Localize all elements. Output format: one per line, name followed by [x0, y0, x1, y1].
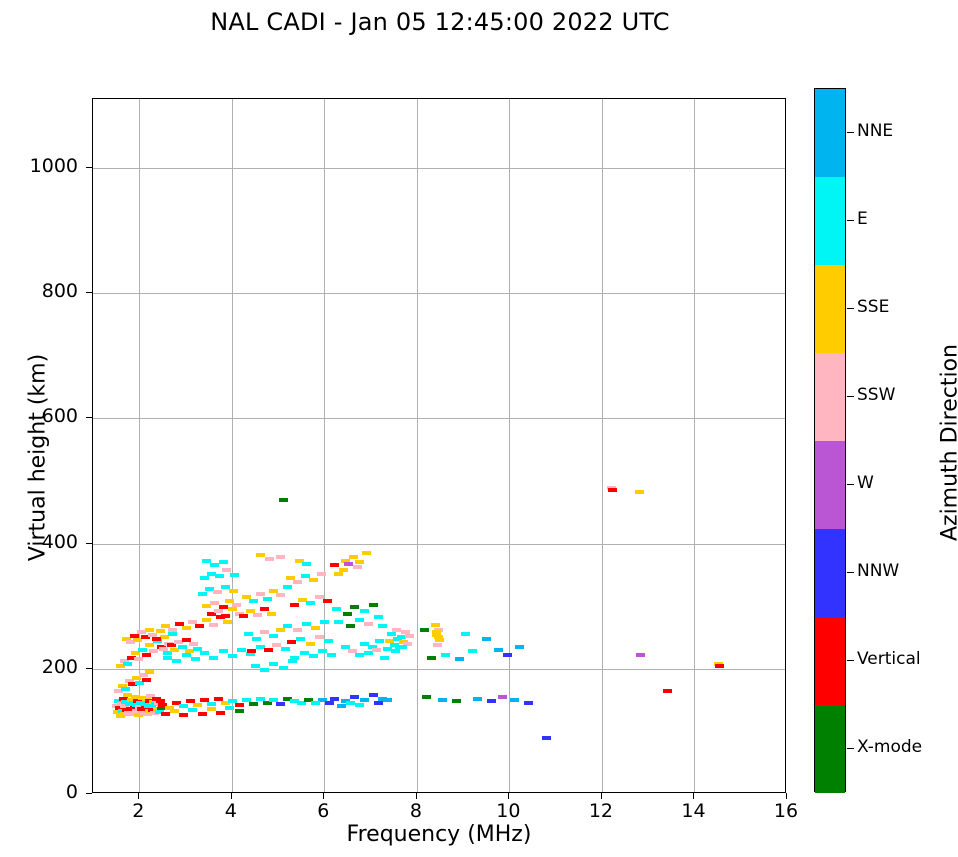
data-point [608, 488, 617, 492]
data-point [323, 599, 332, 603]
data-point [142, 678, 151, 682]
x-tick-label: 6 [293, 800, 353, 822]
data-point [360, 609, 369, 613]
data-point [309, 654, 318, 658]
data-point [247, 649, 256, 653]
data-point [355, 703, 364, 707]
colorbar-band [815, 89, 845, 177]
y-tick-label: 1000 [8, 155, 78, 177]
data-point [337, 704, 346, 708]
data-point [320, 620, 329, 624]
colorbar-tick [847, 220, 854, 221]
data-point [296, 637, 305, 641]
data-point [188, 708, 197, 712]
data-point [362, 551, 371, 555]
x-tick-label: 2 [108, 800, 168, 822]
data-point [182, 653, 191, 657]
data-point [287, 640, 296, 644]
chart-title: NAL CADI - Jan 05 12:45:00 2022 UTC [0, 8, 880, 36]
data-point [302, 562, 311, 566]
data-point [156, 629, 165, 633]
data-point [252, 637, 261, 641]
colorbar-band [815, 441, 845, 529]
data-point [265, 557, 274, 561]
data-point [325, 701, 334, 705]
data-point [267, 612, 276, 616]
x-tick [231, 793, 232, 799]
data-point [276, 593, 285, 597]
data-point [229, 589, 238, 593]
data-point [364, 622, 373, 626]
data-point [279, 666, 288, 670]
data-point [290, 656, 299, 660]
data-point [383, 698, 392, 702]
data-point [216, 711, 225, 715]
data-point [179, 713, 188, 717]
data-point [207, 707, 216, 711]
data-point [468, 649, 477, 653]
x-tick-label: 16 [756, 800, 816, 822]
data-point [515, 645, 524, 649]
data-point [193, 703, 202, 707]
data-point [145, 628, 154, 632]
data-point [300, 651, 309, 655]
data-point [253, 613, 262, 617]
data-point [209, 656, 218, 660]
y-axis-title: Virtual height (km) [26, 288, 51, 628]
y-tick-label: 200 [8, 656, 78, 678]
data-point [230, 573, 239, 577]
data-point [311, 701, 320, 705]
data-point [269, 634, 278, 638]
data-point [306, 601, 315, 605]
x-tick-label: 12 [571, 800, 631, 822]
data-point [145, 643, 154, 647]
data-point [324, 639, 333, 643]
data-point [198, 712, 207, 716]
data-point [235, 703, 244, 707]
data-point [161, 712, 170, 716]
data-point [510, 698, 519, 702]
data-point [283, 585, 292, 589]
data-point [172, 659, 181, 663]
data-point [281, 647, 290, 651]
data-point [503, 653, 512, 657]
data-point [494, 648, 503, 652]
colorbar-label-e: E [857, 209, 868, 229]
data-point [269, 662, 278, 666]
data-point [306, 642, 315, 646]
colorbar-title: Azimuth Direction [938, 283, 958, 603]
data-point [293, 628, 302, 632]
colorbar-label-x-mode: X-mode [857, 737, 922, 757]
data-point [189, 642, 198, 646]
data-point [374, 615, 383, 619]
data-point [249, 702, 258, 706]
data-point [276, 555, 285, 559]
x-tick [693, 793, 694, 799]
data-point [195, 624, 204, 628]
data-point [482, 637, 491, 641]
data-point [198, 592, 207, 596]
colorbar-band [815, 705, 845, 793]
data-point [392, 628, 401, 632]
data-point [239, 614, 248, 618]
data-point [219, 560, 228, 564]
data-point [221, 614, 230, 618]
colorbar-tick [847, 396, 854, 397]
colorbar-band [815, 529, 845, 617]
data-point [332, 607, 341, 611]
data-point [290, 603, 299, 607]
data-point [350, 605, 359, 609]
data-point [232, 603, 241, 607]
colorbar-label-nne: NNE [857, 121, 893, 141]
data-point [293, 580, 302, 584]
data-point [438, 698, 447, 702]
data-point [663, 689, 672, 693]
data-point [145, 670, 154, 674]
x-tick-label: 8 [386, 800, 446, 822]
data-point [244, 632, 253, 636]
data-point [219, 605, 228, 609]
data-point [343, 612, 352, 616]
x-tick-label: 10 [478, 800, 538, 822]
ionogram-figure: NAL CADI - Jan 05 12:45:00 2022 UTC 2468… [0, 0, 958, 857]
data-point [276, 628, 285, 632]
data-point [398, 645, 407, 649]
data-point [152, 637, 161, 641]
data-point [260, 607, 269, 611]
y-tick-label: 0 [8, 781, 78, 803]
data-point [349, 555, 358, 559]
data-point [121, 687, 130, 691]
data-point [461, 632, 470, 636]
data-point [327, 653, 336, 657]
data-point [237, 648, 246, 652]
plot-area [92, 98, 786, 793]
y-tick [86, 292, 92, 293]
colorbar-label-sse: SSE [857, 297, 889, 317]
colorbar-band [815, 265, 845, 353]
data-point [434, 635, 443, 639]
data-point [200, 651, 209, 655]
data-point [346, 624, 355, 628]
data-point [309, 578, 318, 582]
colorbar-label-w: W [857, 473, 874, 493]
data-point [168, 632, 177, 636]
data-point [202, 618, 211, 622]
data-point [473, 697, 482, 701]
data-point [170, 709, 179, 713]
data-point [372, 648, 381, 652]
data-point [355, 618, 364, 622]
data-point [251, 664, 260, 668]
data-point [387, 632, 396, 636]
data-point [214, 609, 223, 613]
x-axis-title: Frequency (MHz) [92, 822, 786, 847]
data-point [288, 659, 297, 663]
data-point [360, 698, 369, 702]
data-point [433, 643, 442, 647]
x-tick-label: 4 [201, 800, 261, 822]
data-point [142, 653, 151, 657]
colorbar-band [815, 353, 845, 441]
data-point [355, 653, 364, 657]
data-point [315, 635, 324, 639]
y-tick [86, 167, 92, 168]
data-point [498, 695, 507, 699]
data-point [179, 704, 188, 708]
data-point [330, 563, 339, 567]
data-point [249, 599, 258, 603]
colorbar-band [815, 617, 845, 705]
data-point [353, 565, 362, 569]
data-point [225, 706, 234, 710]
colorbar [814, 88, 846, 792]
x-tick [601, 793, 602, 799]
data-point [431, 623, 440, 627]
data-point [207, 702, 216, 706]
data-point [168, 628, 177, 632]
data-point [276, 702, 285, 706]
data-point [348, 649, 357, 653]
data-point [524, 701, 533, 705]
y-tick [86, 543, 92, 544]
data-point [264, 648, 273, 652]
data-point [200, 576, 209, 580]
data-point [374, 701, 383, 705]
colorbar-tick [847, 484, 854, 485]
data-point [260, 668, 269, 672]
x-tick [323, 793, 324, 799]
data-point [256, 553, 265, 557]
data-point [123, 662, 132, 666]
data-point [355, 560, 364, 564]
data-point [334, 620, 343, 624]
colorbar-label-ssw: SSW [857, 385, 895, 405]
data-point [380, 656, 389, 660]
data-point [715, 664, 724, 668]
data-point [422, 695, 431, 699]
data-point [228, 654, 237, 658]
data-point [369, 603, 378, 607]
data-points-layer [93, 99, 785, 792]
colorbar-tick [847, 748, 854, 749]
data-point [163, 656, 172, 660]
data-point [279, 498, 288, 502]
data-point [283, 624, 292, 628]
data-point [487, 699, 496, 703]
colorbar-tick [847, 132, 854, 133]
colorbar-label-vertical: Vertical [857, 649, 921, 669]
data-point [182, 626, 191, 630]
data-point [213, 590, 222, 594]
data-point [149, 649, 158, 653]
data-point [228, 607, 237, 611]
data-point [452, 699, 461, 703]
data-point [542, 736, 551, 740]
x-tick [786, 793, 787, 799]
y-tick [86, 668, 92, 669]
data-point [263, 597, 272, 601]
data-point [341, 645, 350, 649]
colorbar-tick [847, 660, 854, 661]
data-point [635, 490, 644, 494]
data-point [302, 622, 311, 626]
colorbar-label-nnw: NNW [857, 561, 899, 581]
data-point [427, 656, 436, 660]
data-point [405, 634, 414, 638]
x-tick [416, 793, 417, 799]
data-point [256, 592, 265, 596]
data-point [378, 624, 387, 628]
data-point [346, 701, 355, 705]
data-point [391, 649, 400, 653]
data-point [441, 653, 450, 657]
colorbar-band [815, 177, 845, 265]
data-point [350, 695, 359, 699]
y-tick [86, 793, 92, 794]
x-tick-label: 14 [663, 800, 723, 822]
data-point [317, 572, 326, 576]
colorbar-tick [847, 308, 854, 309]
data-point [235, 709, 244, 713]
data-point [318, 649, 327, 653]
data-point [269, 589, 278, 593]
data-point [334, 572, 343, 576]
data-point [369, 693, 378, 697]
colorbar-tick [847, 572, 854, 573]
data-point [134, 657, 143, 661]
x-tick [508, 793, 509, 799]
data-point [311, 626, 320, 630]
data-point [455, 657, 464, 661]
data-point [432, 630, 441, 634]
x-tick [138, 793, 139, 799]
data-point [191, 657, 200, 661]
data-point [222, 568, 231, 572]
data-point [215, 574, 224, 578]
data-point [219, 649, 228, 653]
data-point [636, 653, 645, 657]
data-point [420, 628, 429, 632]
y-tick [86, 417, 92, 418]
data-point [138, 648, 147, 652]
data-point [223, 620, 232, 624]
data-point [375, 639, 384, 643]
data-point [209, 623, 218, 627]
